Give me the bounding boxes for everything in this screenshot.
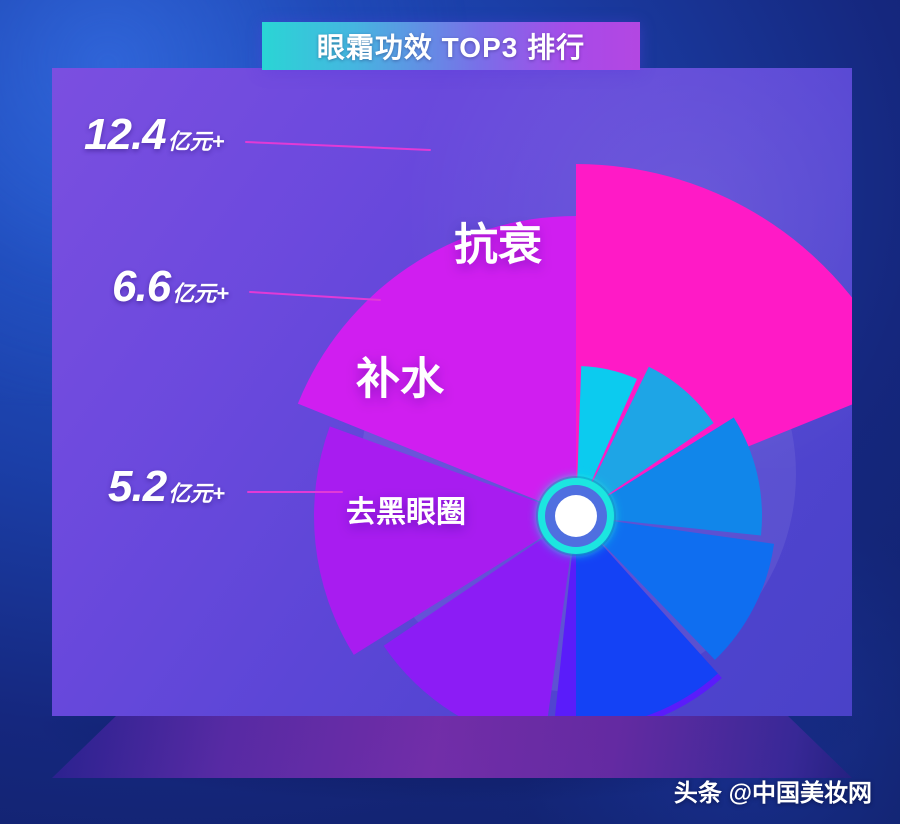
value-number-0: 12.4 — [84, 110, 166, 159]
leader-line — [246, 142, 430, 150]
pie-chart-wheel: 抗衰补水去黑眼圈 — [52, 68, 852, 716]
value-label-0: 12.4亿元+ — [84, 110, 225, 160]
slice-label: 补水 — [356, 355, 445, 404]
slice-label: 抗衰 — [454, 221, 542, 270]
watermark: 头条 @中国美妆网 — [674, 773, 872, 808]
value-unit-2: 亿元+ — [168, 481, 225, 506]
value-unit-1: 亿元+ — [172, 281, 229, 306]
title-banner: 眼霜功效 TOP3 排行 — [262, 22, 640, 70]
value-label-1: 6.6亿元+ — [112, 262, 229, 312]
pie-slices — [298, 164, 852, 716]
leader-line — [250, 292, 380, 300]
page-title: 眼霜功效 TOP3 排行 — [317, 26, 585, 66]
value-number-2: 5.2 — [108, 462, 166, 511]
chart-hub — [536, 476, 616, 556]
infographic-canvas: 抗衰补水去黑眼圈 眼霜功效 TOP3 排行 12.4亿元+ 6.6亿元+ 5.2… — [0, 0, 900, 824]
hub-core — [555, 495, 597, 537]
value-unit-0: 亿元+ — [168, 129, 225, 154]
value-label-2: 5.2亿元+ — [108, 462, 225, 512]
pedestal-base — [52, 716, 852, 778]
value-number-1: 6.6 — [112, 262, 170, 311]
slice-label: 去黑眼圈 — [346, 496, 466, 529]
